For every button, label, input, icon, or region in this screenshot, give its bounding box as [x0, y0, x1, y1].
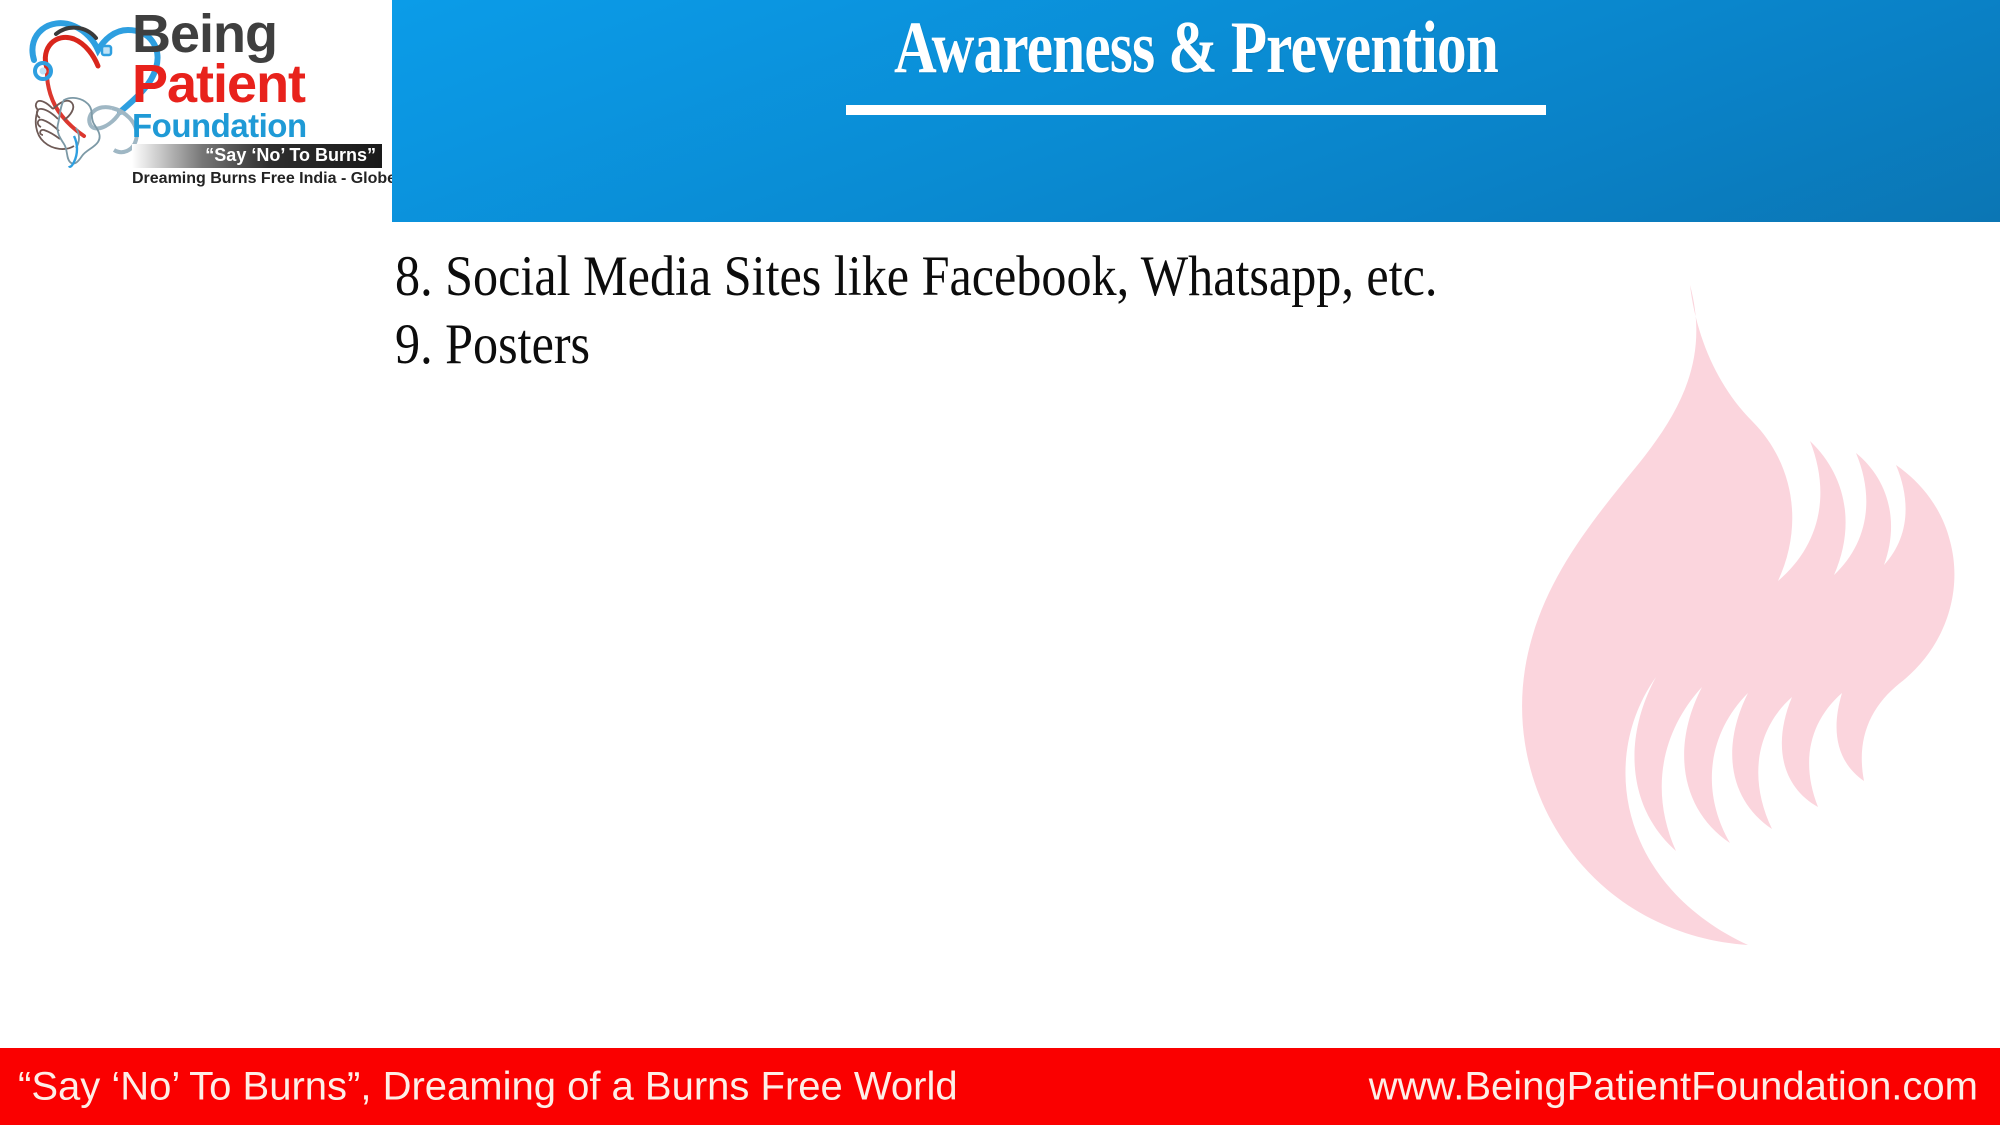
logo-wordmark: Being Patient Foundation “Say ‘No’ To Bu… — [132, 10, 382, 188]
footer-bar: “Say ‘No’ To Burns”, Dreaming of a Burns… — [0, 1048, 2000, 1125]
footer-website[interactable]: www.BeingPatientFoundation.com — [1369, 1064, 1978, 1109]
logo-text-patient: Patient — [132, 60, 382, 110]
logo-subtagline: Dreaming Burns Free India - Globe — [132, 170, 382, 188]
content-line-1: 8. Social Media Sites like Facebook, Wha… — [395, 245, 1768, 309]
flame-watermark-icon — [1504, 263, 2000, 1053]
logo-area: Being Patient Foundation “Say ‘No’ To Bu… — [0, 0, 392, 222]
logo-text-foundation: Foundation — [132, 109, 382, 142]
footer-slogan: “Say ‘No’ To Burns”, Dreaming of a Burns… — [18, 1064, 958, 1109]
slide-content: 8. Social Media Sites like Facebook, Wha… — [395, 245, 1955, 381]
page-title: Awareness & Prevention — [553, 6, 1839, 91]
logo-text-being: Being — [132, 10, 382, 60]
logo-slogan-bar: “Say ‘No’ To Burns” — [132, 144, 382, 168]
header-band: Awareness & Prevention — [392, 0, 2000, 222]
content-line-2: 9. Posters — [395, 313, 1768, 377]
title-underline — [846, 105, 1546, 115]
logo-slogan-text: “Say ‘No’ To Burns” — [205, 145, 376, 165]
